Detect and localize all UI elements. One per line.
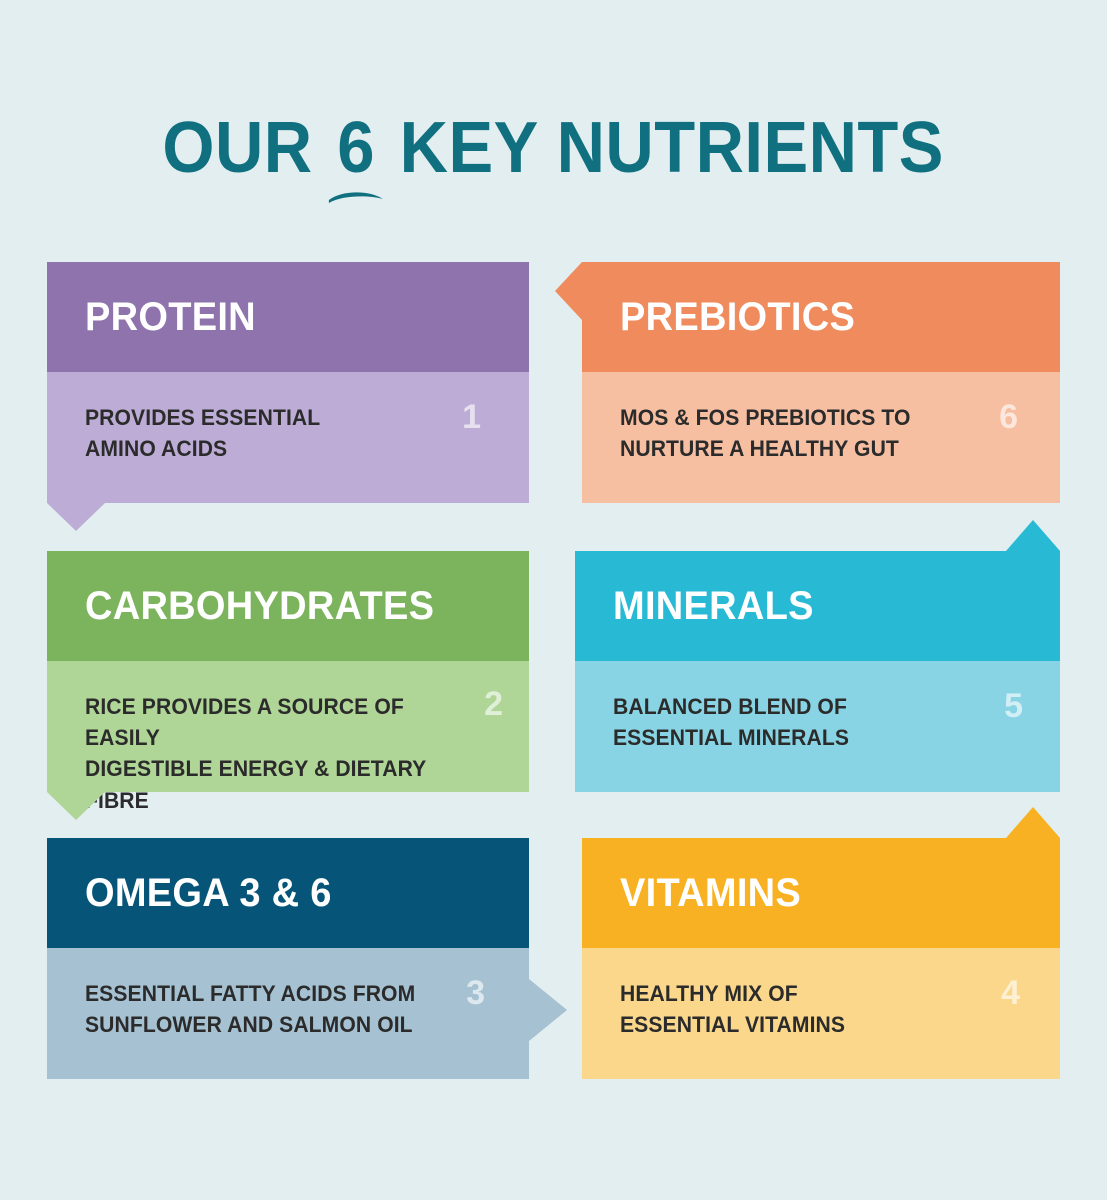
card-protein-description: PROVIDES ESSENTIAL AMINO ACIDS xyxy=(85,402,475,464)
card-protein-title: PROTEIN xyxy=(85,295,256,340)
card-vitamins-number: 4 xyxy=(1001,976,1020,1010)
card-minerals-description: BALANCED BLEND OF ESSENTIAL MINERALS xyxy=(613,691,1006,753)
card-prebiotics-title: PREBIOTICS xyxy=(620,295,855,340)
card-protein-header: PROTEIN xyxy=(47,262,529,372)
card-vitamins-body: HEALTHY MIX OF ESSENTIAL VITAMINS 4 xyxy=(582,948,1060,1079)
card-minerals-number: 5 xyxy=(1004,689,1023,723)
card-prebiotics-body: MOS & FOS PREBIOTICS TO NURTURE A HEALTH… xyxy=(582,372,1060,503)
card-prebiotics-pointer-icon xyxy=(555,262,582,320)
infographic-page: OUR 6 KEY NUTRIENTS PROTEIN PROVIDES ESS… xyxy=(0,0,1107,1200)
nutrient-card-grid: PROTEIN PROVIDES ESSENTIAL AMINO ACIDS 1… xyxy=(0,0,1107,1200)
card-omega-number: 3 xyxy=(466,976,485,1010)
card-vitamins-description: HEALTHY MIX OF ESSENTIAL VITAMINS xyxy=(620,978,1006,1040)
card-omega-body: ESSENTIAL FATTY ACIDS FROM SUNFLOWER AND… xyxy=(47,948,529,1079)
card-carbohydrates-header: CARBOHYDRATES xyxy=(47,551,529,661)
card-omega-3-and-6[interactable]: OMEGA 3 & 6 ESSENTIAL FATTY ACIDS FROM S… xyxy=(47,838,529,1079)
card-minerals-body: BALANCED BLEND OF ESSENTIAL MINERALS 5 xyxy=(575,661,1060,792)
card-carbohydrates-body: RICE PROVIDES A SOURCE OF EASILY DIGESTI… xyxy=(47,661,529,792)
card-carbohydrates[interactable]: CARBOHYDRATES RICE PROVIDES A SOURCE OF … xyxy=(47,551,529,792)
card-vitamins-header: VITAMINS xyxy=(582,838,1060,948)
card-omega-description: ESSENTIAL FATTY ACIDS FROM SUNFLOWER AND… xyxy=(85,978,475,1040)
card-omega-header: OMEGA 3 & 6 xyxy=(47,838,529,948)
card-vitamins[interactable]: VITAMINS HEALTHY MIX OF ESSENTIAL VITAMI… xyxy=(582,838,1060,1079)
card-prebiotics-number: 6 xyxy=(999,400,1018,434)
card-protein[interactable]: PROTEIN PROVIDES ESSENTIAL AMINO ACIDS 1 xyxy=(47,262,529,503)
card-minerals[interactable]: MINERALS BALANCED BLEND OF ESSENTIAL MIN… xyxy=(575,551,1060,792)
card-minerals-pointer-icon xyxy=(1006,520,1060,551)
card-carbohydrates-pointer-icon xyxy=(47,792,105,820)
card-carbohydrates-description: RICE PROVIDES A SOURCE OF EASILY DIGESTI… xyxy=(85,691,475,816)
card-carbohydrates-title: CARBOHYDRATES xyxy=(85,584,434,629)
card-minerals-header: MINERALS xyxy=(575,551,1060,661)
card-prebiotics-header: PREBIOTICS xyxy=(582,262,1060,372)
card-omega-title: OMEGA 3 & 6 xyxy=(85,871,332,916)
card-protein-pointer-icon xyxy=(47,503,105,531)
card-carbohydrates-number: 2 xyxy=(484,687,503,721)
card-vitamins-title: VITAMINS xyxy=(620,871,801,916)
card-prebiotics-description: MOS & FOS PREBIOTICS TO NURTURE A HEALTH… xyxy=(620,402,1006,464)
card-omega-pointer-icon xyxy=(529,979,567,1041)
card-protein-number: 1 xyxy=(462,400,481,434)
card-vitamins-pointer-icon xyxy=(1006,807,1060,838)
card-protein-body: PROVIDES ESSENTIAL AMINO ACIDS 1 xyxy=(47,372,529,503)
card-prebiotics[interactable]: PREBIOTICS MOS & FOS PREBIOTICS TO NURTU… xyxy=(582,262,1060,503)
card-minerals-title: MINERALS xyxy=(613,584,814,629)
